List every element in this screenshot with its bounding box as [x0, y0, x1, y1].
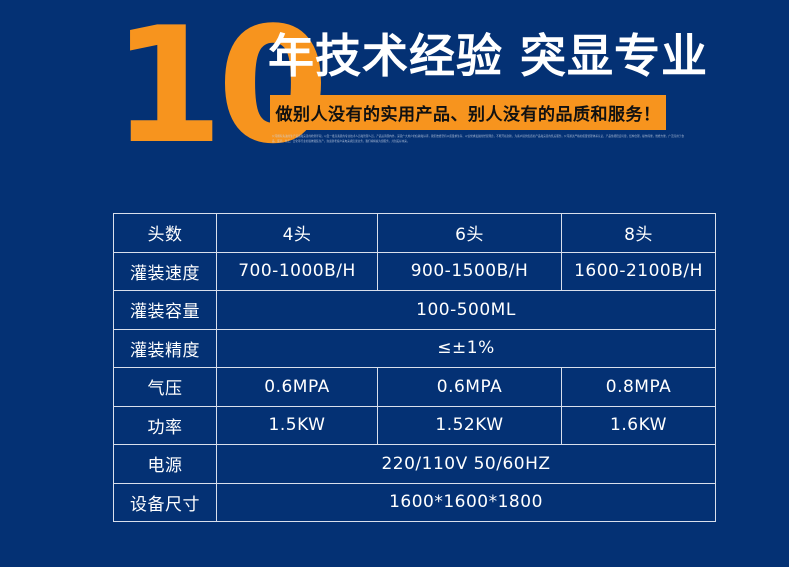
- row-label: 头数: [114, 214, 217, 253]
- row-label: 功率: [114, 406, 217, 445]
- row-label: 灌装速度: [114, 252, 217, 291]
- table-row: 头数 4头 6头 8头: [114, 214, 716, 253]
- row-label: 气压: [114, 368, 217, 407]
- cell-value: 0.6MPA: [378, 368, 562, 407]
- table-row: 气压 0.6MPA 0.6MPA 0.8MPA: [114, 368, 716, 407]
- headline-text: 年技术经验 突显专业: [268, 30, 708, 82]
- cell-value: 6头: [378, 214, 562, 253]
- row-label: 灌装精度: [114, 329, 217, 368]
- hero-banner: 10 年技术经验 突显专业 做别人没有的实用产品、别人没有的品质和服务！ 公司拥…: [0, 0, 789, 200]
- cell-value: 700-1000B/H: [217, 252, 378, 291]
- spec-table-body: 头数 4头 6头 8头 灌装速度 700-1000B/H 900-1500B/H…: [114, 214, 716, 522]
- cell-value: 0.8MPA: [562, 368, 716, 407]
- cell-value-merged: 220/110V 50/60HZ: [217, 445, 716, 484]
- cell-value: 1.5KW: [217, 406, 378, 445]
- slogan-text: 做别人没有的实用产品、别人没有的品质和服务！: [276, 100, 661, 125]
- cell-value-merged: 1600*1600*1800: [217, 483, 716, 522]
- slogan-bar: 做别人没有的实用产品、别人没有的品质和服务！: [270, 95, 666, 130]
- cell-value-merged: ≤±1%: [217, 329, 716, 368]
- cell-value: 8头: [562, 214, 716, 253]
- fine-print-text: 公司拥有先进的生产设备和完善的检测手段，以及一批高素质的专业技术人员和管理人员，…: [272, 134, 684, 145]
- table-row: 灌装容量 100-500ML: [114, 291, 716, 330]
- cell-value: 1.52KW: [378, 406, 562, 445]
- row-label: 电源: [114, 445, 217, 484]
- table-row: 功率 1.5KW 1.52KW 1.6KW: [114, 406, 716, 445]
- cell-value: 1.6KW: [562, 406, 716, 445]
- cell-value: 4头: [217, 214, 378, 253]
- specification-table: 头数 4头 6头 8头 灌装速度 700-1000B/H 900-1500B/H…: [113, 213, 716, 522]
- table-row: 设备尺寸 1600*1600*1800: [114, 483, 716, 522]
- table-row: 电源 220/110V 50/60HZ: [114, 445, 716, 484]
- cell-value-merged: 100-500ML: [217, 291, 716, 330]
- table-row: 灌装精度 ≤±1%: [114, 329, 716, 368]
- row-label: 设备尺寸: [114, 483, 217, 522]
- cell-value: 0.6MPA: [217, 368, 378, 407]
- cell-value: 900-1500B/H: [378, 252, 562, 291]
- row-label: 灌装容量: [114, 291, 217, 330]
- cell-value: 1600-2100B/H: [562, 252, 716, 291]
- table-row: 灌装速度 700-1000B/H 900-1500B/H 1600-2100B/…: [114, 252, 716, 291]
